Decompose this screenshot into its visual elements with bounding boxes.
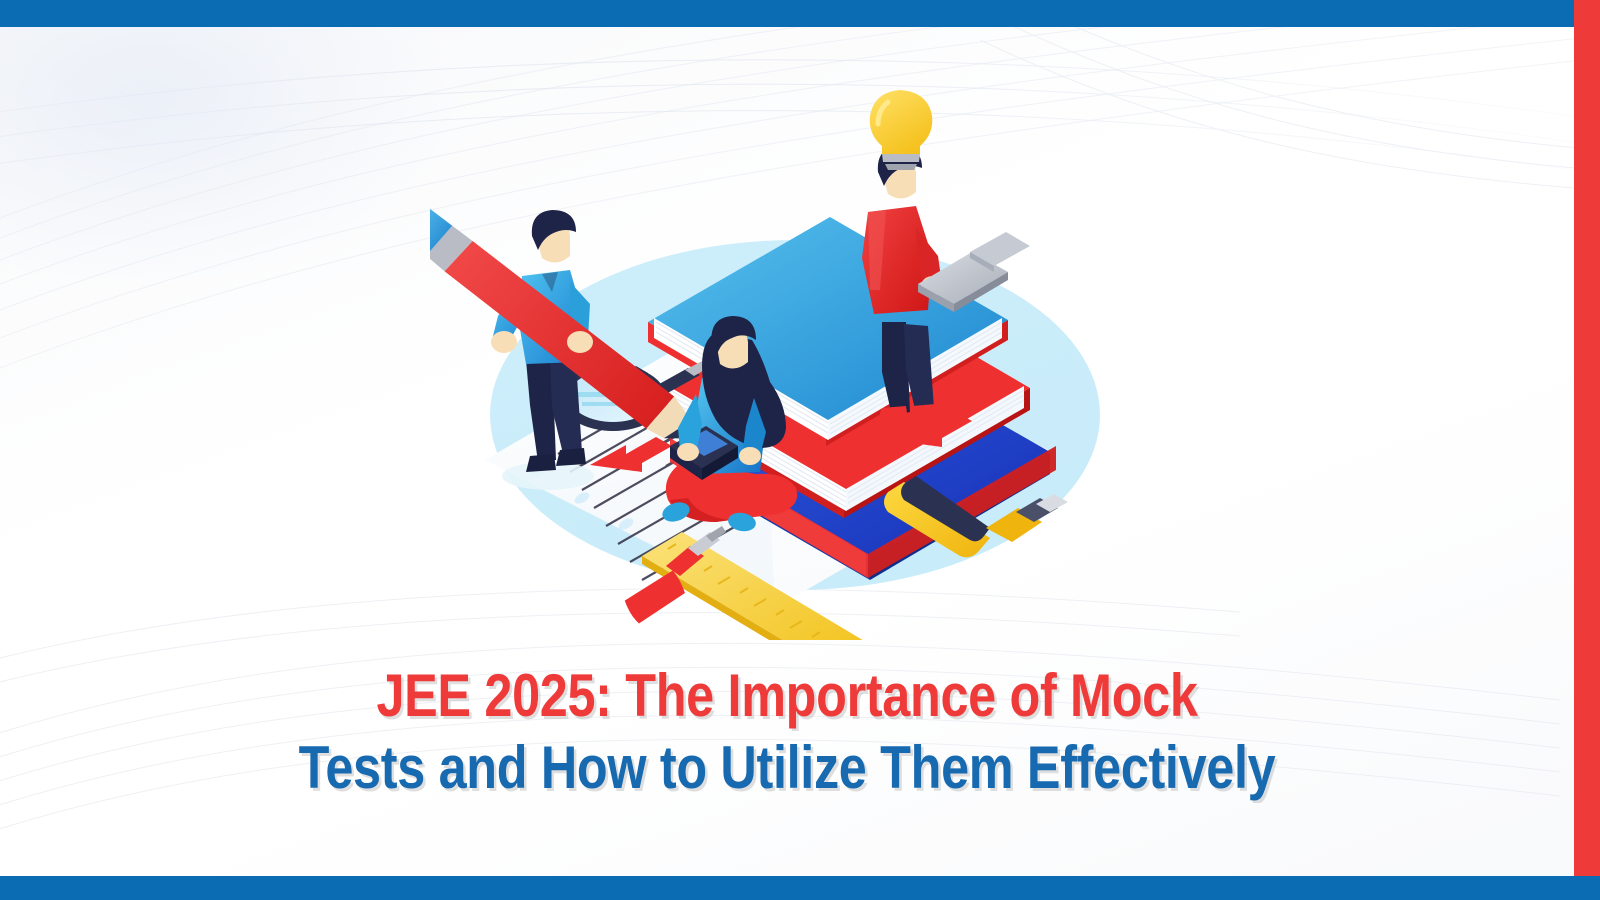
banner-root: JEE 2025: The Importance of Mock Tests a… <box>0 0 1600 900</box>
right-accent-bar <box>1574 0 1600 877</box>
illustration-isometric-study-scene <box>430 60 1170 640</box>
headline: JEE 2025: The Importance of Mock Tests a… <box>0 666 1574 798</box>
lightbulb <box>870 90 933 170</box>
headline-line-1: JEE 2025: The Importance of Mock <box>126 666 1448 726</box>
bottom-accent-bar <box>0 876 1600 900</box>
top-accent-bar <box>0 0 1574 27</box>
headline-line-2: Tests and How to Utilize Them Effectivel… <box>126 738 1448 798</box>
